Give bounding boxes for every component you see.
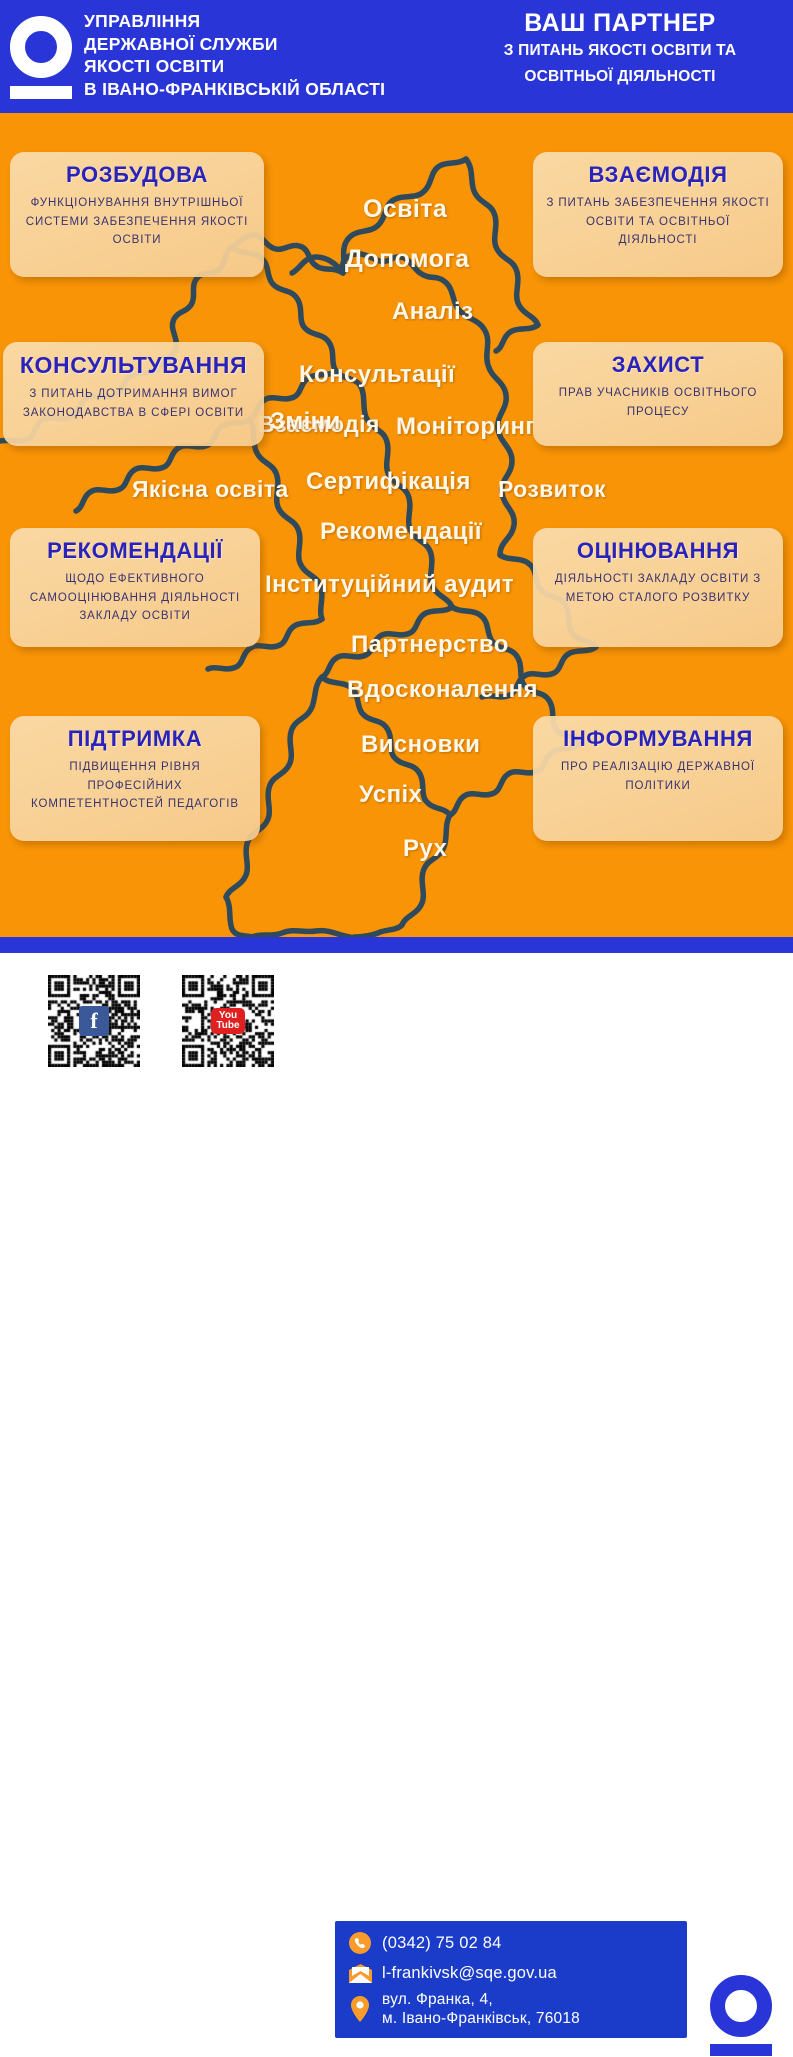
youtube-qr-code[interactable]: You Tube [182, 975, 274, 1067]
logo-bar-shape [10, 86, 72, 99]
map-word-rekomendatsii: Рекомендації [320, 518, 482, 546]
map-word-rukh: Рух [403, 835, 447, 863]
page-header: УПРАВЛІННЯ ДЕРЖАВНОЇ СЛУЖБИ ЯКОСТІ ОСВІТ… [0, 0, 793, 113]
card-otsiniuvannia[interactable]: ОЦІНЮВАННЯ ДІЯЛЬНОСТІ ЗАКЛАДУ ОСВІТИ З М… [533, 528, 783, 647]
card-body-line: ПІДВИЩЕННЯ РІВНЯ [22, 758, 248, 777]
card-body-line: ЩОДО ЕФЕКТИВНОГО [22, 570, 248, 589]
card-body-line: ПРО РЕАЛІЗАЦІЮ ДЕРЖАВНОЇ [545, 758, 771, 777]
map-word-vdoskonalennia: Вдосконалення [347, 676, 538, 704]
contact-block: (0342) 75 02 84 l-frankivsk@sqe.gov.ua [335, 1921, 687, 2038]
card-title: РОЗБУДОВА [22, 162, 252, 188]
card-zakhyst[interactable]: ЗАХИСТ ПРАВ УЧАСНИКІВ ОСВІТНЬОГО ПРОЦЕСУ [533, 342, 783, 446]
map-word-analiz: Аналіз [392, 298, 473, 326]
card-title: РЕКОМЕНДАЦІЇ [22, 538, 248, 564]
card-body-line: ПРОФЕСІЙНИХ [22, 777, 248, 796]
card-title: ПІДТРИМКА [22, 726, 248, 752]
map-word-yakisna-osvita: Якісна освіта [132, 476, 289, 503]
section-divider [0, 937, 793, 953]
map-word-zminy: Зміни [270, 408, 341, 436]
card-body-line: КОМПЕТЕНТНОСТЕЙ ПЕДАГОГІВ [22, 795, 248, 814]
map-word-dopomoha: Допомога [345, 245, 469, 274]
slogan-main: ВАШ ПАРТНЕР [452, 8, 788, 38]
youtube-icon: You Tube [211, 1008, 245, 1034]
contact-address-row[interactable]: вул. Франка, 4, м. Івано-Франківськ, 760… [347, 1990, 687, 2028]
card-body-line: СИСТЕМИ ЗАБЕЗПЕЧЕННЯ ЯКОСТІ [22, 213, 252, 232]
map-word-sertyfikatsiia: Сертифікація [306, 468, 471, 496]
card-body-line: ФУНКЦІОНУВАННЯ ВНУТРІШНЬОЇ [22, 194, 252, 213]
address-line-1: вул. Франка, 4, [382, 1990, 580, 2009]
card-body-line: ДІЯЛЬНОСТІ ЗАКЛАДУ ОСВІТИ З [545, 570, 771, 589]
organization-name: УПРАВЛІННЯ ДЕРЖАВНОЇ СЛУЖБИ ЯКОСТІ ОСВІТ… [84, 10, 385, 100]
card-body-line: ПРАВ УЧАСНИКІВ ОСВІТНЬОГО [545, 384, 771, 403]
footer-logo-ring-shape [710, 1975, 772, 2037]
card-title: ВЗАЄМОДІЯ [545, 162, 771, 188]
mail-icon [347, 1960, 373, 1986]
footer-logo-bar-shape [710, 2044, 772, 2056]
card-title: ІНФОРМУВАННЯ [545, 726, 771, 752]
card-body-line: ДІЯЛЬНОСТІ [545, 231, 771, 250]
location-icon [347, 1996, 373, 2022]
card-vzaiemodiia[interactable]: ВЗАЄМОДІЯ З ПИТАНЬ ЗАБЕЗПЕЧЕННЯ ЯКОСТІ О… [533, 152, 783, 277]
card-body-line: ОСВІТИ [22, 231, 252, 250]
phone-number: (0342) 75 02 84 [382, 1933, 502, 1953]
map-word-vysnovky: Висновки [361, 731, 480, 759]
phone-icon [347, 1930, 373, 1956]
card-body-line: ПОЛІТИКИ [545, 777, 771, 796]
map-word-instytutsiinyi-audyt: Інституційний аудит [265, 571, 514, 599]
email-address: l-frankivsk@sqe.gov.ua [382, 1963, 557, 1983]
logo-ring-shape [10, 16, 72, 78]
card-title: КОНСУЛЬТУВАННЯ [15, 352, 252, 379]
poster-main-area: Освіта Допомога Аналіз Взаємодія Консуль… [0, 113, 793, 937]
card-title: ЗАХИСТ [545, 352, 771, 378]
card-rekomendatsii[interactable]: РЕКОМЕНДАЦІЇ ЩОДО ЕФЕКТИВНОГО САМООЦІНЮВ… [10, 528, 260, 647]
map-word-partnerstvo: Партнерство [351, 631, 509, 659]
card-body-line: ОСВІТИ ТА ОСВІТНЬОЇ [545, 213, 771, 232]
organization-logo-icon [10, 16, 76, 100]
page-footer: f You Tube (0342) 75 02 84 [0, 953, 793, 1123]
card-body-line: ЗАКОНОДАВСТВА В СФЕРІ ОСВІТИ [15, 404, 252, 423]
card-pidtrymka[interactable]: ПІДТРИМКА ПІДВИЩЕННЯ РІВНЯ ПРОФЕСІЙНИХ К… [10, 716, 260, 841]
map-word-uspikh: Успіх [359, 781, 422, 809]
card-body-line: ПРОЦЕСУ [545, 403, 771, 422]
card-body-line: ЗАКЛАДУ ОСВІТИ [22, 607, 248, 626]
contact-phone-row[interactable]: (0342) 75 02 84 [347, 1930, 687, 1956]
map-word-osvita: Освіта [363, 195, 447, 224]
card-body-line: САМООЦІНЮВАННЯ ДІЯЛЬНОСТІ [22, 589, 248, 608]
card-title: ОЦІНЮВАННЯ [545, 538, 771, 564]
address-line-2: м. Івано-Франківськ, 76018 [382, 2009, 580, 2028]
map-word-monitorynh: Моніторинг [396, 413, 536, 441]
slogan-sub-line-2: ОСВІТНЬОЇ ДІЯЛЬНОСТІ [452, 64, 788, 90]
map-word-konsultatsii: Консультації [299, 361, 455, 389]
org-name-line-3: ЯКОСТІ ОСВІТИ [84, 55, 385, 78]
facebook-icon: f [79, 1006, 109, 1036]
footer-logo-icon [710, 1975, 776, 2057]
org-name-line-4: В ІВАНО-ФРАНКІВСЬКІЙ ОБЛАСТІ [84, 78, 385, 101]
header-slogan: ВАШ ПАРТНЕР З ПИТАНЬ ЯКОСТІ ОСВІТИ ТА ОС… [452, 8, 788, 90]
map-word-rozvytok: Розвиток [498, 476, 606, 503]
card-body-line: З ПИТАНЬ ЗАБЕЗПЕЧЕННЯ ЯКОСТІ [545, 194, 771, 213]
facebook-qr-code[interactable]: f [48, 975, 140, 1067]
card-body-line: МЕТОЮ СТАЛОГО РОЗВИТКУ [545, 589, 771, 608]
contact-email-row[interactable]: l-frankivsk@sqe.gov.ua [347, 1960, 687, 1986]
youtube-badge-bottom: Tube [216, 1021, 239, 1031]
card-rozbudova[interactable]: РОЗБУДОВА ФУНКЦІОНУВАННЯ ВНУТРІШНЬОЇ СИС… [10, 152, 264, 277]
org-name-line-2: ДЕРЖАВНОЇ СЛУЖБИ [84, 33, 385, 56]
card-informuvannia[interactable]: ІНФОРМУВАННЯ ПРО РЕАЛІЗАЦІЮ ДЕРЖАВНОЇ ПО… [533, 716, 783, 841]
postal-address: вул. Франка, 4, м. Івано-Франківськ, 760… [382, 1990, 580, 2028]
card-konsultuvannia[interactable]: КОНСУЛЬТУВАННЯ З ПИТАНЬ ДОТРИМАННЯ ВИМОГ… [3, 342, 264, 446]
org-name-line-1: УПРАВЛІННЯ [84, 10, 385, 33]
card-body-line: З ПИТАНЬ ДОТРИМАННЯ ВИМОГ [15, 385, 252, 404]
slogan-sub-line-1: З ПИТАНЬ ЯКОСТІ ОСВІТИ ТА [452, 38, 788, 64]
